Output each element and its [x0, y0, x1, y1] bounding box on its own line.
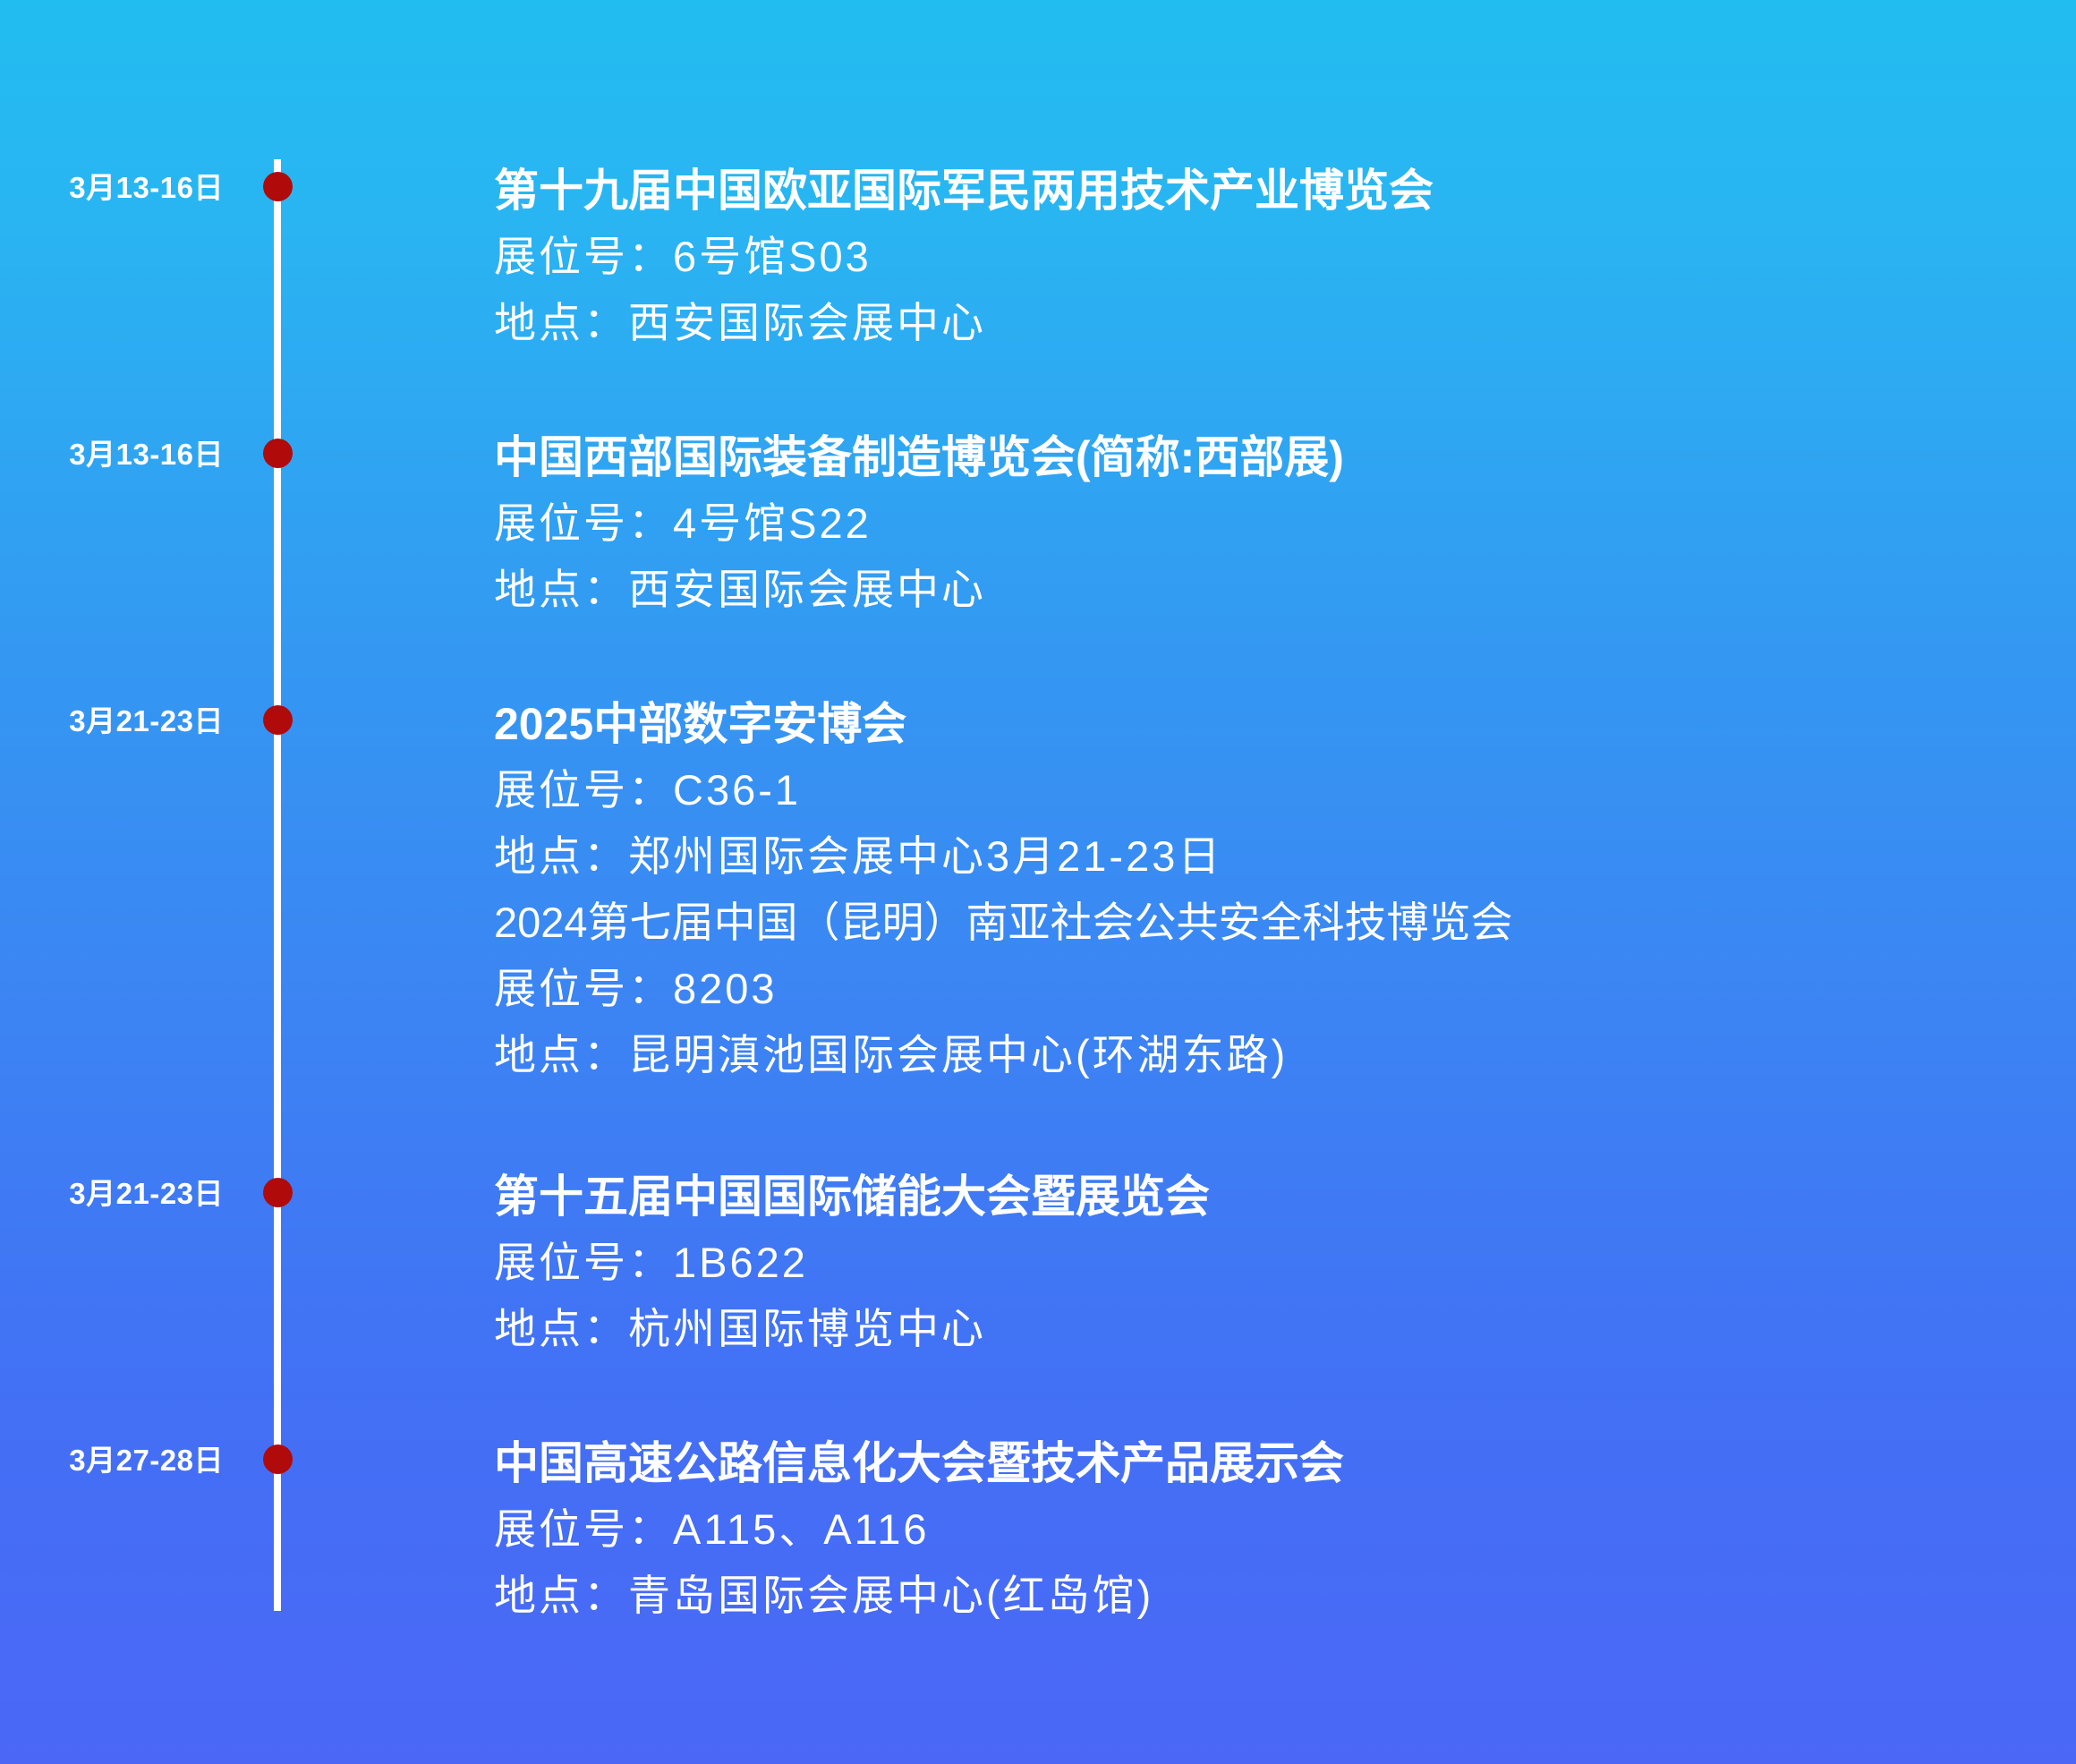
event-booth-number: 展位号：4号馆S22 [494, 490, 2051, 557]
timeline-dot-icon [263, 439, 293, 468]
event-date-label: 3月13-16日 [0, 439, 224, 469]
event-title: 中国西部国际装备制造博览会(简称:西部展) [494, 424, 2051, 490]
event-date-label: 3月13-16日 [0, 173, 224, 202]
event-title: 第十九届中国欧亚国际军民两用技术产业博览会 [494, 158, 2051, 224]
timeline-dot-icon [263, 1178, 293, 1207]
event-title: 第十五届中国国际储能大会暨展览会 [494, 1163, 2051, 1230]
event-venue: 地点：西安国际会展中心 [494, 290, 2051, 356]
timeline-dot-icon [263, 1444, 293, 1474]
event-booth-number: 展位号：A115、A116 [494, 1496, 2051, 1563]
exhibition-schedule-poster: 3月13-16日 第十九届中国欧亚国际军民两用技术产业博览会 展位号：6号馆S0… [0, 0, 2076, 1764]
event-venue: 地点：郑州国际会展中心3月21-23日 [494, 823, 2051, 890]
timeline-axis-line [274, 159, 281, 1611]
event-date-label: 3月21-23日 [0, 1179, 224, 1208]
event-venue: 地点：青岛国际会展中心(红岛馆) [494, 1563, 2051, 1629]
event-details: 2025中部数字安博会 展位号：C36-1 地点：郑州国际会展中心3月21-23… [494, 691, 2051, 1088]
event-title: 中国高速公路信息化大会暨技术产品展示会 [494, 1430, 2051, 1496]
event-booth-number: 展位号：C36-1 [494, 757, 2051, 823]
event-booth-number: 展位号：6号馆S03 [494, 224, 2051, 290]
event-details: 中国西部国际装备制造博览会(简称:西部展) 展位号：4号馆S22 地点：西安国际… [494, 424, 2051, 623]
event-date-label: 3月27-28日 [0, 1445, 224, 1475]
event-venue: 地点：杭州国际博览中心 [494, 1296, 2051, 1362]
timeline-dot-icon [263, 705, 293, 735]
event-venue: 地点：西安国际会展中心 [494, 557, 2051, 623]
event-title: 2025中部数字安博会 [494, 691, 2051, 757]
timeline-dot-icon [263, 172, 293, 201]
event-secondary-venue: 地点：昆明滇池国际会展中心(环湖东路) [494, 1022, 2051, 1088]
event-details: 第十九届中国欧亚国际军民两用技术产业博览会 展位号：6号馆S03 地点：西安国际… [494, 158, 2051, 356]
event-date-label: 3月21-23日 [0, 706, 224, 736]
event-secondary-booth-number: 展位号：8203 [494, 956, 2051, 1022]
event-booth-number: 展位号：1B622 [494, 1230, 2051, 1296]
event-details: 第十五届中国国际储能大会暨展览会 展位号：1B622 地点：杭州国际博览中心 [494, 1163, 2051, 1362]
event-secondary-title: 2024第七届中国（昆明）南亚社会公共安全科技博览会 [494, 890, 2051, 956]
event-details: 中国高速公路信息化大会暨技术产品展示会 展位号：A115、A116 地点：青岛国… [494, 1430, 2051, 1629]
